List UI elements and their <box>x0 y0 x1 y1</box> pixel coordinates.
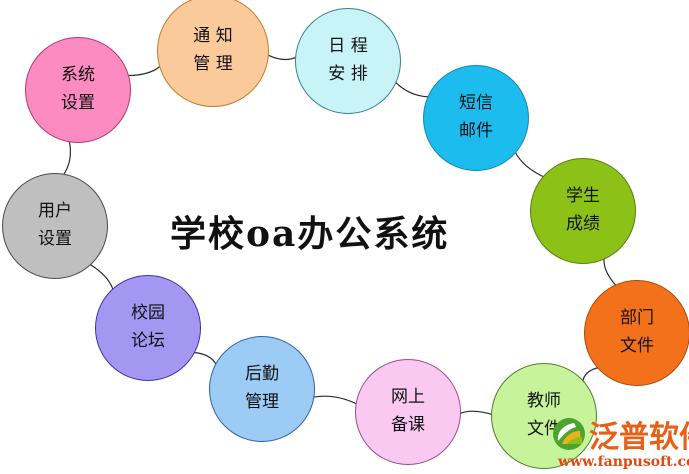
node-label-secondary: 成绩 <box>566 216 600 234</box>
node-label-primary: 通 知 <box>193 28 232 46</box>
node-teacher-files[interactable]: 教师文件 <box>491 363 597 469</box>
node-label-primary: 用户 <box>38 203 72 221</box>
page-title: 学校oa办公系统 <box>170 205 449 257</box>
node-department-files[interactable]: 部门文件 <box>584 280 689 386</box>
node-sms-email[interactable]: 短信邮件 <box>423 65 529 171</box>
node-label-secondary: 文件 <box>527 421 561 439</box>
node-online-lesson-prep[interactable]: 网上备课 <box>355 359 461 465</box>
link-schedule-arrangement-to-sms-email <box>396 82 429 97</box>
diagram-canvas: 系统设置通 知管 理日 程安 排短信邮件学生成绩部门文件教师文件网上备课后勤管理… <box>0 0 689 474</box>
link-online-lesson-prep-to-logistics-management <box>313 396 356 404</box>
node-label-secondary: 管 理 <box>193 56 232 74</box>
link-teacher-files-to-online-lesson-prep <box>460 411 492 414</box>
node-label-primary: 短信 <box>459 95 493 113</box>
node-label-primary: 校园 <box>131 305 165 323</box>
node-label-primary: 部门 <box>620 310 654 328</box>
node-user-settings[interactable]: 用户设置 <box>2 173 108 279</box>
node-label-secondary: 文件 <box>620 338 654 356</box>
node-label-primary: 后勤 <box>245 366 279 384</box>
node-campus-forum[interactable]: 校园论坛 <box>95 275 201 381</box>
node-student-scores[interactable]: 学生成绩 <box>530 158 636 264</box>
link-department-files-to-teacher-files <box>583 368 598 382</box>
node-label-primary: 网上 <box>391 389 425 407</box>
link-student-scores-to-department-files <box>604 259 616 286</box>
node-label-secondary: 安 排 <box>328 66 367 84</box>
link-logistics-management-to-campus-forum <box>194 353 216 365</box>
node-label-secondary: 论坛 <box>131 333 165 351</box>
watermark-brand: 泛普软件 <box>589 412 689 456</box>
node-label-secondary: 设置 <box>38 231 72 249</box>
link-campus-forum-to-user-settings <box>90 264 113 289</box>
link-notice-management-to-schedule-arrangement <box>268 55 296 59</box>
node-label-secondary: 备课 <box>391 417 425 435</box>
node-label-secondary: 设置 <box>61 95 95 113</box>
node-logistics-management[interactable]: 后勤管理 <box>209 336 315 442</box>
node-label-secondary: 邮件 <box>459 123 493 141</box>
node-label-primary: 系统 <box>61 67 95 85</box>
node-label-primary: 教师 <box>527 393 561 411</box>
node-schedule-arrangement[interactable]: 日 程安 排 <box>295 8 401 114</box>
node-notice-management[interactable]: 通 知管 理 <box>157 0 269 107</box>
node-label-primary: 学生 <box>566 188 600 206</box>
node-label-primary: 日 程 <box>328 38 367 56</box>
link-system-settings-to-notice-management <box>128 66 160 75</box>
node-system-settings[interactable]: 系统设置 <box>25 37 131 143</box>
link-user-settings-to-system-settings <box>64 141 71 174</box>
link-sms-email-to-student-scores <box>515 152 544 177</box>
node-label-secondary: 管理 <box>245 394 279 412</box>
